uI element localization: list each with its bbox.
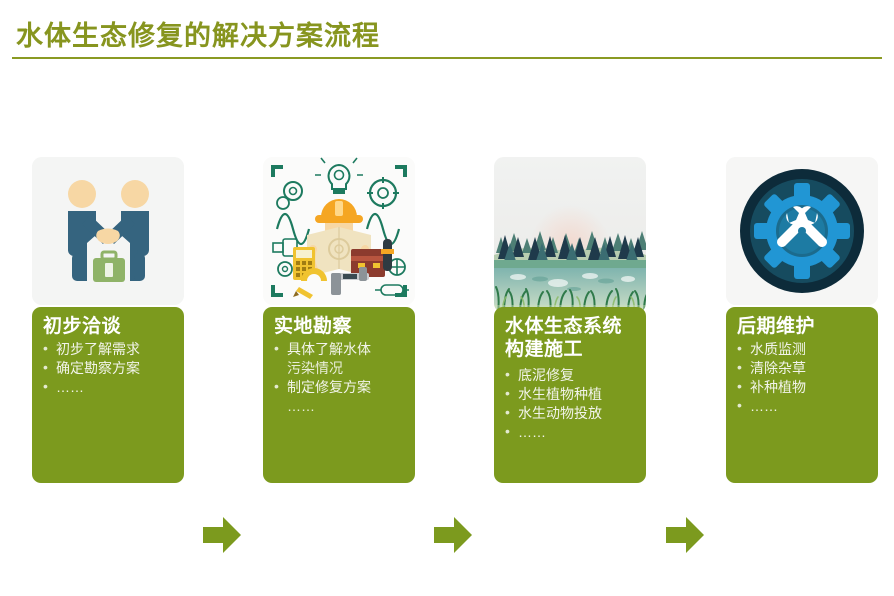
process-flow: 初步洽谈 初步了解需求 确定勘察方案 …… bbox=[0, 150, 894, 495]
flow-step-2-body: 实地勘察 具体了解水体 污染情况 制定修复方案 …… bbox=[263, 307, 415, 483]
list-item: 底泥修复 bbox=[505, 366, 636, 384]
list-item: 水质监测 bbox=[737, 340, 868, 358]
flow-step-3[interactable]: 水体生态系统构建施工 底泥修复 水生植物种植 水生动物投放 …… bbox=[494, 150, 646, 490]
list-item: 污染情况 bbox=[274, 359, 405, 377]
list-item: 水生动物投放 bbox=[505, 404, 636, 422]
list-item: …… bbox=[737, 397, 868, 415]
flow-step-4-title: 后期维护 bbox=[737, 315, 868, 338]
flow-step-1-body: 初步洽谈 初步了解需求 确定勘察方案 …… bbox=[32, 307, 184, 483]
flow-step-2[interactable]: 实地勘察 具体了解水体 污染情况 制定修复方案 …… bbox=[263, 150, 415, 490]
flow-step-2-title: 实地勘察 bbox=[274, 315, 405, 338]
list-item: 确定勘察方案 bbox=[43, 359, 174, 377]
site-survey-icon bbox=[263, 157, 415, 305]
list-item: 水生植物种植 bbox=[505, 385, 636, 403]
handshake-icon bbox=[32, 157, 184, 305]
page-title: 水体生态修复的解决方案流程 bbox=[16, 14, 380, 53]
arrow-right-icon bbox=[203, 516, 241, 554]
list-item: 具体了解水体 bbox=[274, 340, 405, 358]
flow-step-1-bullets: 初步了解需求 确定勘察方案 …… bbox=[43, 340, 174, 396]
flow-step-3-title: 水体生态系统构建施工 bbox=[505, 315, 636, 361]
flow-step-1[interactable]: 初步洽谈 初步了解需求 确定勘察方案 …… bbox=[32, 150, 184, 490]
flow-arrow-1 bbox=[203, 516, 241, 554]
flow-arrow-3 bbox=[666, 516, 704, 554]
lake-ecosystem-icon bbox=[494, 157, 646, 313]
list-item: 初步了解需求 bbox=[43, 340, 174, 358]
arrow-right-icon bbox=[666, 516, 704, 554]
flow-step-3-body: 水体生态系统构建施工 底泥修复 水生植物种植 水生动物投放 …… bbox=[494, 307, 646, 483]
list-item: 补种植物 bbox=[737, 378, 868, 396]
flow-step-4[interactable]: 后期维护 水质监测 清除杂草 补种植物 …… bbox=[726, 150, 878, 490]
flow-step-4-body: 后期维护 水质监测 清除杂草 补种植物 …… bbox=[726, 307, 878, 483]
flow-step-1-title: 初步洽谈 bbox=[43, 315, 174, 338]
flow-arrow-2 bbox=[434, 516, 472, 554]
gear-tools-icon bbox=[726, 157, 878, 305]
flow-step-2-bullets: 具体了解水体 污染情况 制定修复方案 …… bbox=[274, 340, 405, 415]
title-divider bbox=[12, 57, 882, 59]
list-item: …… bbox=[43, 378, 174, 396]
flow-step-4-bullets: 水质监测 清除杂草 补种植物 …… bbox=[737, 340, 868, 415]
list-item: 制定修复方案 bbox=[274, 378, 405, 396]
list-item: …… bbox=[505, 423, 636, 441]
arrow-right-icon bbox=[434, 516, 472, 554]
flow-step-3-bullets: 底泥修复 水生植物种植 水生动物投放 …… bbox=[505, 366, 636, 441]
list-item: 清除杂草 bbox=[737, 359, 868, 377]
list-item: …… bbox=[274, 397, 405, 415]
